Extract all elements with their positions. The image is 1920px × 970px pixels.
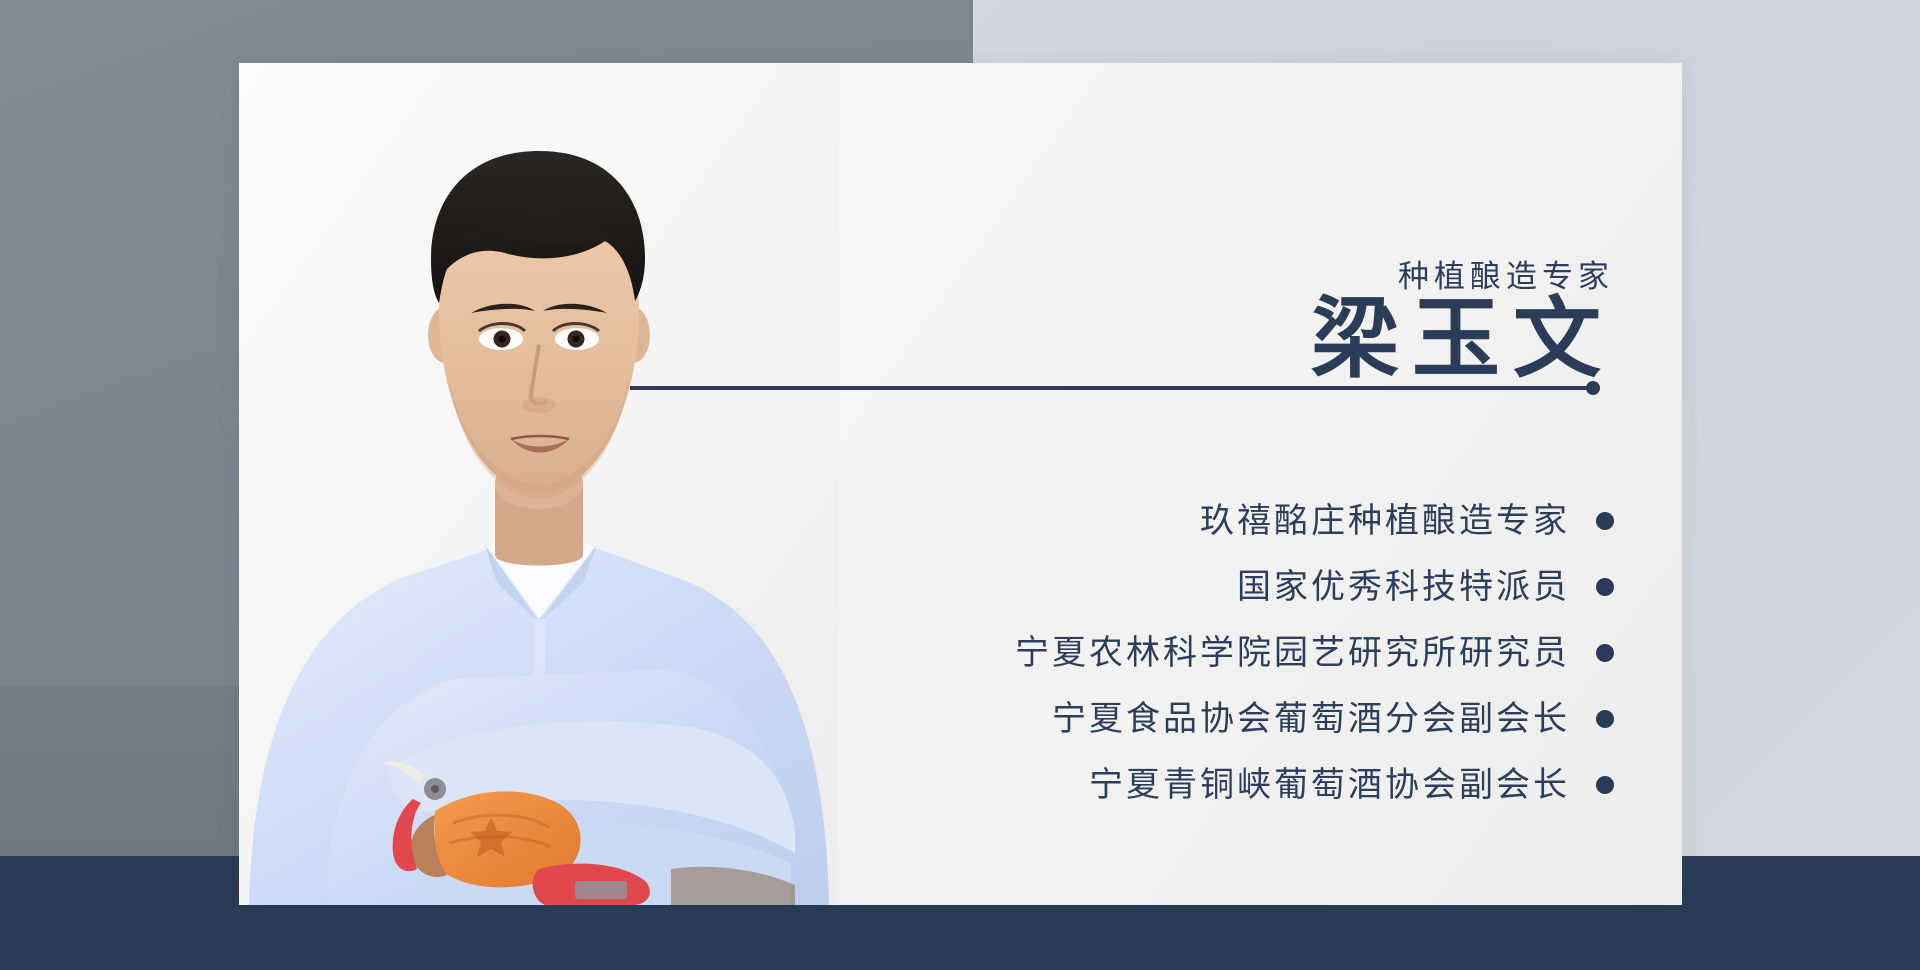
expert-name: 梁玉文 [1298, 295, 1614, 387]
credentials-list: 玖禧酩庄种植酿造专家 国家优秀科技特派员 宁夏农林科学院园艺研究所研究员 宁夏食… [714, 488, 1614, 818]
list-item: 宁夏青铜峡葡萄酒协会副会长 [714, 752, 1614, 818]
bullet-dot-icon [1596, 710, 1614, 728]
divider [630, 381, 1600, 395]
bullet-dot-icon [1596, 578, 1614, 596]
credential-label: 玖禧酩庄种植酿造专家 [1200, 504, 1570, 538]
bullet-dot-icon [1596, 776, 1614, 794]
role-title: 种植酿造专家 [1398, 251, 1614, 296]
credential-label: 宁夏食品协会葡萄酒分会副会长 [1052, 702, 1570, 736]
credential-label: 宁夏青铜峡葡萄酒协会副会长 [1089, 768, 1570, 802]
list-item: 宁夏食品协会葡萄酒分会副会长 [714, 686, 1614, 752]
list-item: 宁夏农林科学院园艺研究所研究员 [714, 620, 1614, 686]
bullet-dot-icon [1596, 644, 1614, 662]
list-item: 玖禧酩庄种植酿造专家 [714, 488, 1614, 554]
expert-profile-banner: 种植酿造专家 梁玉文 玖禧酩庄种植酿造专家 国家优秀科技特派员 宁夏农林科学院园… [0, 0, 1920, 970]
profile-card: 种植酿造专家 梁玉文 玖禧酩庄种植酿造专家 国家优秀科技特派员 宁夏农林科学院园… [239, 63, 1682, 905]
credential-label: 国家优秀科技特派员 [1237, 570, 1570, 604]
divider-end-dot-icon [1586, 381, 1600, 395]
credential-label: 宁夏农林科学院园艺研究所研究员 [1015, 636, 1570, 670]
divider-line [630, 386, 1592, 390]
list-item: 国家优秀科技特派员 [714, 554, 1614, 620]
bullet-dot-icon [1596, 512, 1614, 530]
